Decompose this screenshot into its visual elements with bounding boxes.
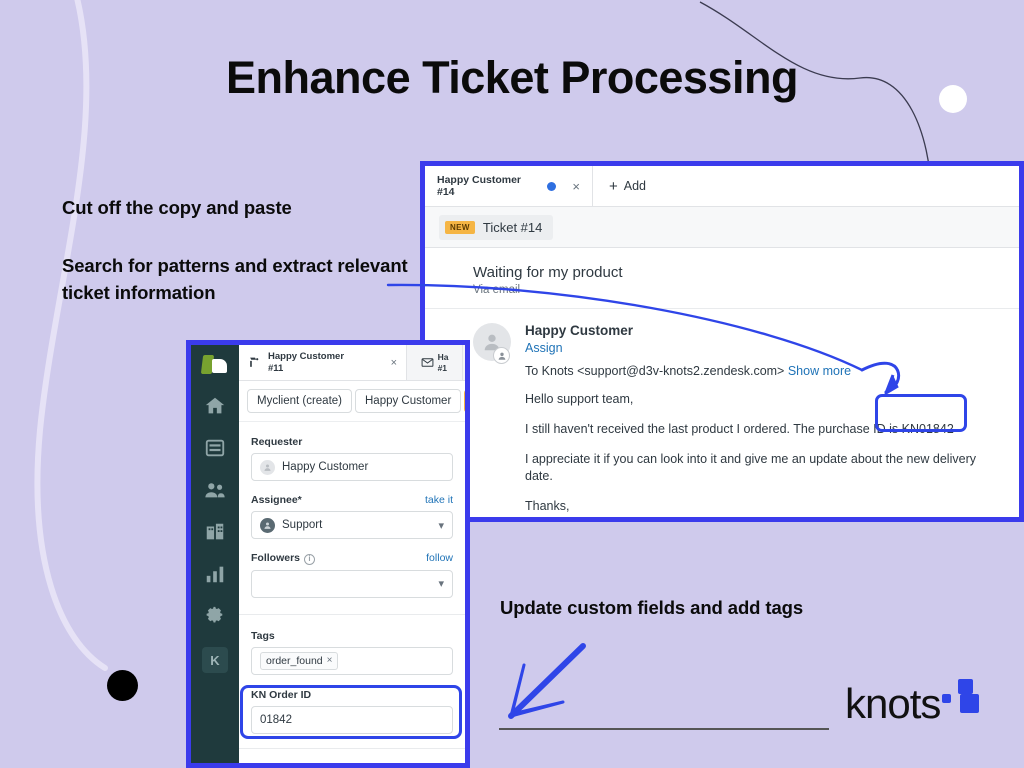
knots-logo-square-2 [942, 694, 951, 703]
zendesk-ticket-panel: Happy Customer #14 × + Add NEW Ticket #1… [420, 161, 1024, 522]
tags-input[interactable]: order_found × [251, 647, 453, 675]
tag-chip-label: order_found [266, 655, 323, 667]
chevron-down-icon: ▾ [438, 519, 444, 532]
bullet-copy-paste: Cut off the copy and paste [62, 197, 292, 219]
email-signature: Happy Customer [525, 514, 1005, 522]
tag-remove-icon[interactable]: × [327, 655, 333, 666]
admin-gear-icon[interactable] [204, 605, 226, 627]
assignee-avatar-icon [260, 518, 275, 533]
requester-input[interactable]: Happy Customer [251, 453, 453, 481]
ticket-sub-bar: NEW Ticket #14 [425, 207, 1019, 248]
pill-new-badge[interactable]: NEW [464, 389, 470, 413]
info-icon[interactable]: i [304, 554, 315, 565]
avatar [473, 323, 511, 361]
plus-icon: + [609, 178, 618, 195]
highlight-box-purchase-id [875, 394, 967, 432]
assign-link[interactable]: Assign [525, 341, 1005, 355]
recipient-line: To Knots <support@d3v-knots2.zendesk.com… [525, 364, 1005, 378]
ticket-body: Waiting for my product Via email Happy C… [425, 248, 1019, 522]
status-badge: NEW [445, 221, 475, 234]
followers-label-text: Followers [251, 552, 300, 564]
requester-label: Requester [251, 436, 453, 448]
annotation-arrow-shaft-2 [511, 646, 583, 716]
ticket-tab-happy-customer-11[interactable]: Happy Customer #11 × [239, 345, 407, 380]
ticket-chip-label: Ticket #14 [483, 220, 543, 235]
home-icon[interactable] [204, 395, 226, 417]
ticket-subject: Waiting for my product [473, 264, 1019, 281]
views-icon[interactable] [204, 437, 226, 459]
ticket-tab-subtitle: #14 [437, 186, 521, 198]
fields-tab-title: Happy Customer [268, 351, 344, 362]
agent-badge-icon [493, 347, 510, 364]
decor-black-dot [107, 670, 138, 701]
partial-tab-title: Ha [438, 352, 449, 362]
ticket-channel: Via email [473, 284, 1019, 296]
ticket-tab-bar: Happy Customer #14 × + Add [425, 166, 1019, 207]
divider [239, 614, 465, 615]
email-body-line-2: I appreciate it if you can look into it … [525, 451, 1005, 485]
close-icon[interactable]: × [391, 357, 397, 369]
tags-label: Tags [251, 630, 453, 642]
page-title: Enhance Ticket Processing [0, 52, 1024, 104]
assignee-label: Assignee* [251, 494, 302, 506]
conversation-author: Happy Customer [525, 323, 1005, 338]
tag-chip-order-found[interactable]: order_found × [260, 652, 338, 670]
ticket-tab-partial[interactable]: Ha #1 [407, 345, 463, 380]
add-tab-button[interactable]: + Add [593, 166, 1019, 206]
divider [239, 748, 465, 749]
zendesk-logo[interactable] [202, 355, 228, 375]
email-closing-thanks: Thanks, [525, 498, 1005, 515]
close-icon[interactable]: × [564, 179, 580, 194]
partial-tab-subtitle: #1 [438, 363, 449, 373]
bullet-custom-fields: Update custom fields and add tags [500, 597, 803, 619]
pill-myclient-create[interactable]: Myclient (create) [247, 389, 352, 413]
show-more-link[interactable]: Show more [788, 364, 851, 378]
knots-wordmark: knots [845, 683, 940, 725]
fields-tab-bar: Happy Customer #11 × Ha #1 [239, 345, 465, 381]
reporting-icon[interactable] [204, 563, 226, 585]
email-closing: Thanks, Happy Customer [525, 498, 1005, 523]
take-it-link[interactable]: take it [425, 494, 453, 506]
requester-avatar-icon [260, 460, 275, 475]
follow-link[interactable]: follow [426, 552, 453, 564]
recipient-address: To Knots <support@d3v-knots2.zendesk.com… [525, 364, 784, 378]
followers-select[interactable]: ▾ [251, 570, 453, 598]
customers-icon[interactable] [204, 479, 226, 501]
form-selector-pills: Myclient (create) Happy Customer NEW [239, 381, 465, 422]
highlight-box-kn-order-id [240, 685, 462, 739]
bullet-search-patterns: Search for patterns and extract relevant… [62, 252, 432, 307]
ticket-icon [248, 356, 261, 369]
unsaved-dot-icon [547, 182, 556, 191]
knots-app-icon[interactable]: K [202, 647, 228, 673]
knots-logo-square-1 [958, 679, 973, 694]
assignee-select[interactable]: Support ▾ [251, 511, 453, 539]
chevron-down-icon: ▾ [438, 577, 444, 590]
footer-rule [499, 728, 829, 730]
ticket-status-chip[interactable]: NEW Ticket #14 [439, 215, 553, 240]
ticket-tab-happy-customer-14[interactable]: Happy Customer #14 × [425, 166, 593, 206]
pill-happy-customer[interactable]: Happy Customer [355, 389, 461, 413]
assignee-value: Support [282, 519, 322, 531]
followers-label: Followersi [251, 552, 315, 565]
knots-logo-square-3 [960, 694, 979, 713]
annotation-arrow-head-2 [511, 665, 563, 716]
fields-tab-subtitle: #11 [268, 363, 344, 374]
ticket-tab-title: Happy Customer [437, 174, 521, 186]
add-tab-label: Add [624, 179, 646, 193]
envelope-icon [421, 356, 434, 369]
requester-value: Happy Customer [282, 461, 368, 473]
zendesk-sidebar-rail: K [191, 345, 239, 763]
organizations-icon[interactable] [204, 521, 226, 543]
